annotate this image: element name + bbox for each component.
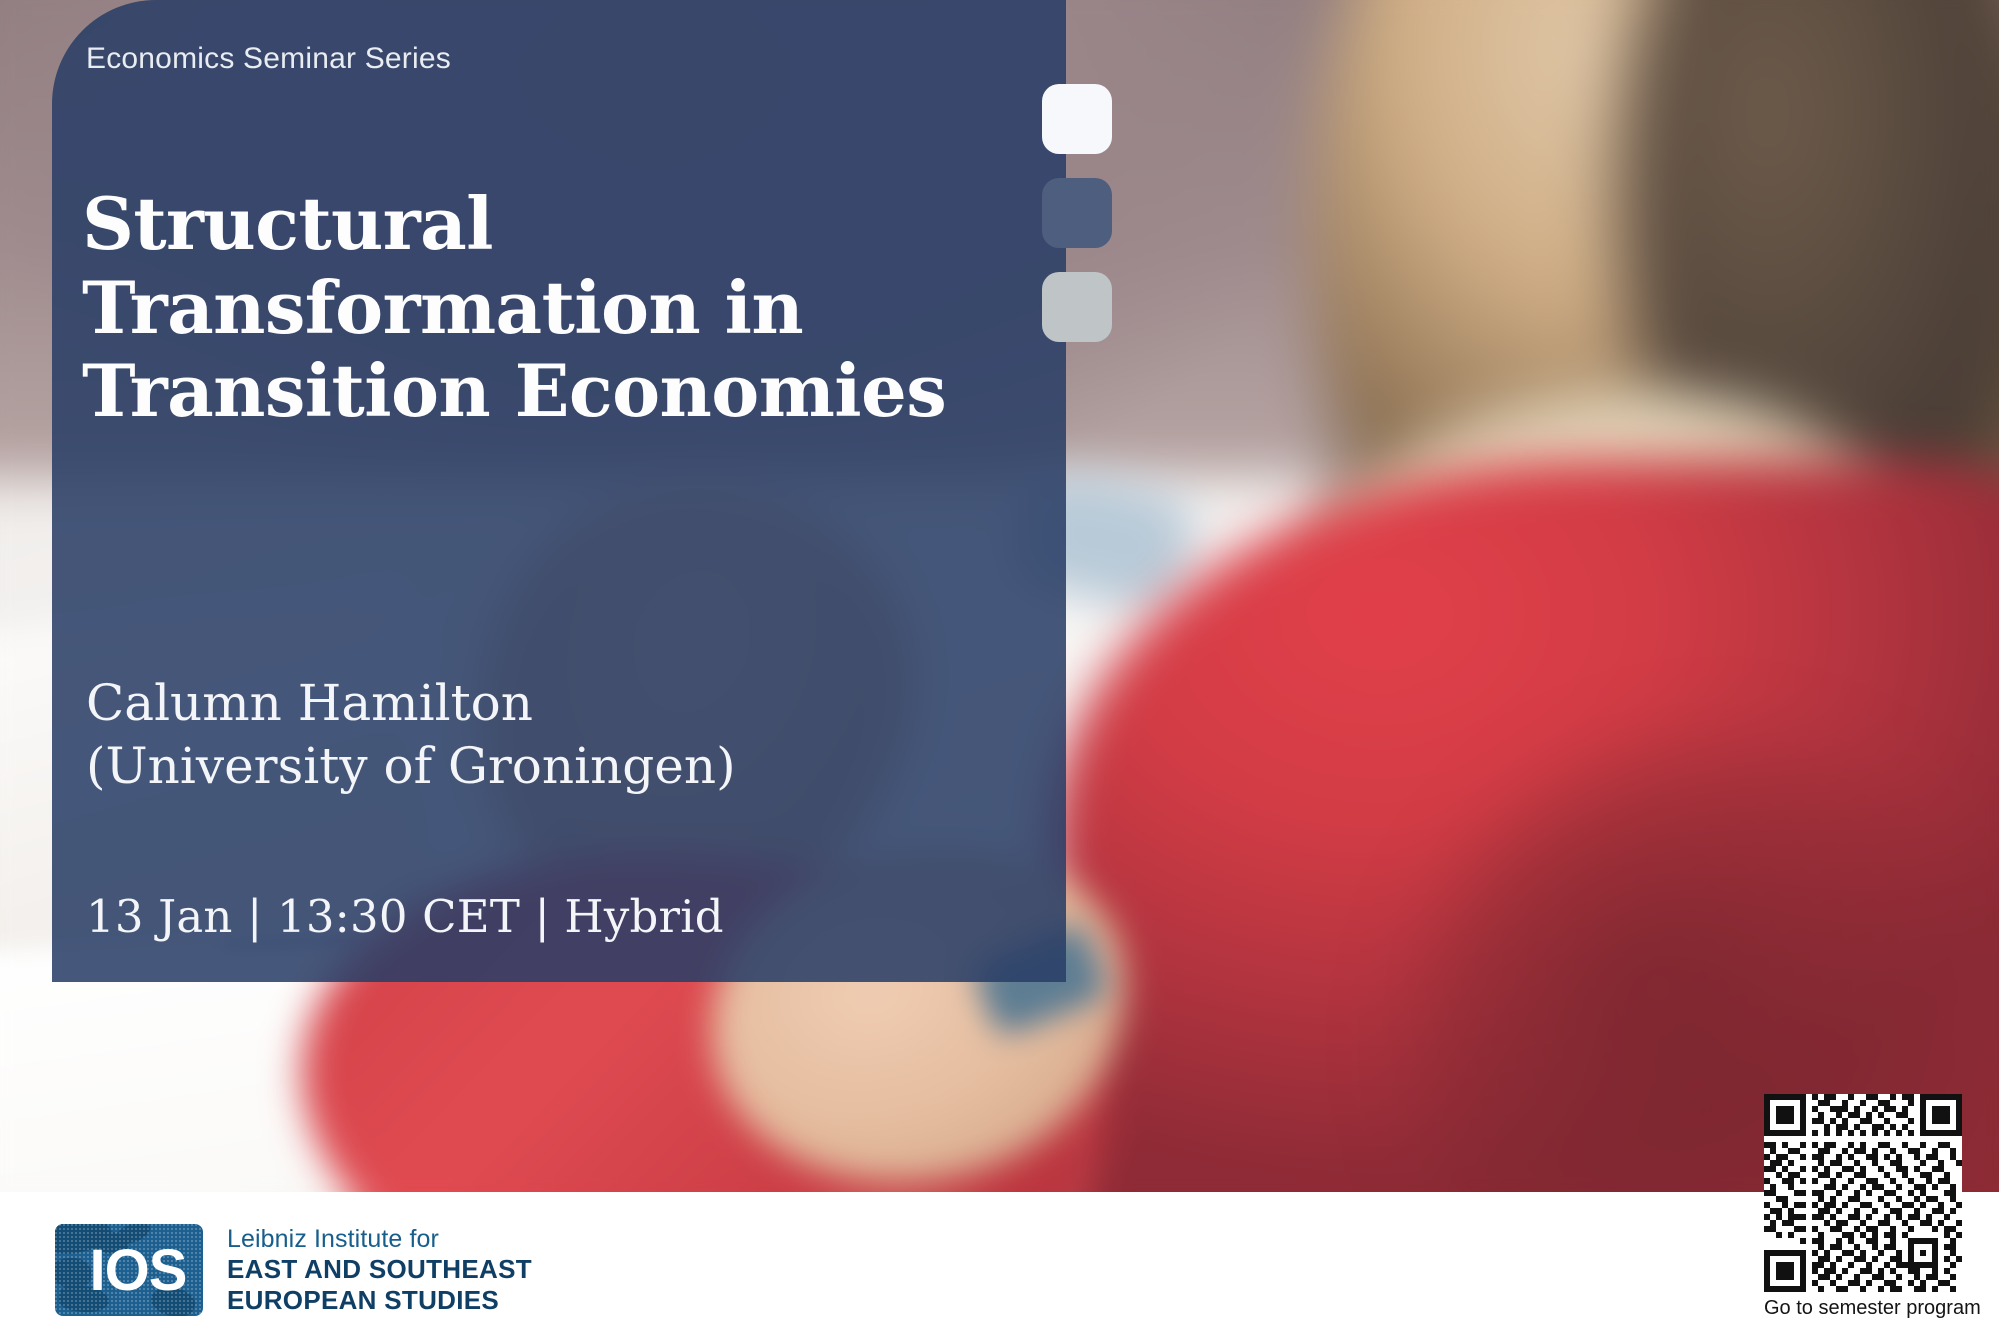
speaker-name: Calumn Hamilton (86, 672, 1026, 735)
ios-logo-text: IOS (55, 1224, 203, 1316)
qr-caption: Go to semester program (1764, 1297, 1969, 1320)
event-datetime: 13 Jan | 13:30 CET | Hybrid (86, 890, 724, 943)
speaker-block: Calumn Hamilton (University of Groningen… (86, 672, 1026, 798)
square-white-icon (1042, 84, 1112, 154)
decor-squares (1042, 84, 1116, 344)
ios-logo-wordmark: Leibniz Institute for EAST AND SOUTHEAST… (227, 1225, 532, 1314)
ios-logo: IOS Leibniz Institute for EAST AND SOUTH… (55, 1224, 532, 1316)
seminar-poster: Economics Seminar Series Structural Tran… (0, 0, 1999, 1333)
ios-logo-mark: IOS (55, 1224, 203, 1316)
ios-logo-line3: EUROPEAN STUDIES (227, 1285, 532, 1315)
info-panel-content: Economics Seminar Series Structural Tran… (52, 0, 1066, 982)
speaker-affiliation: (University of Groningen) (86, 735, 1026, 798)
series-eyebrow: Economics Seminar Series (86, 42, 451, 76)
qr-code-icon[interactable] (1764, 1094, 1962, 1292)
info-panel: Economics Seminar Series Structural Tran… (52, 0, 1066, 982)
square-gray-icon (1042, 272, 1112, 342)
ios-logo-line2: EAST AND SOUTHEAST (227, 1254, 532, 1284)
footer-bar: IOS Leibniz Institute for EAST AND SOUTH… (0, 1192, 1999, 1333)
page-title: Structural Transformation in Transition … (82, 182, 1042, 433)
ios-logo-line1: Leibniz Institute for (227, 1225, 532, 1254)
square-slate-icon (1042, 178, 1112, 248)
qr-block[interactable]: Go to semester program (1764, 1094, 1969, 1320)
